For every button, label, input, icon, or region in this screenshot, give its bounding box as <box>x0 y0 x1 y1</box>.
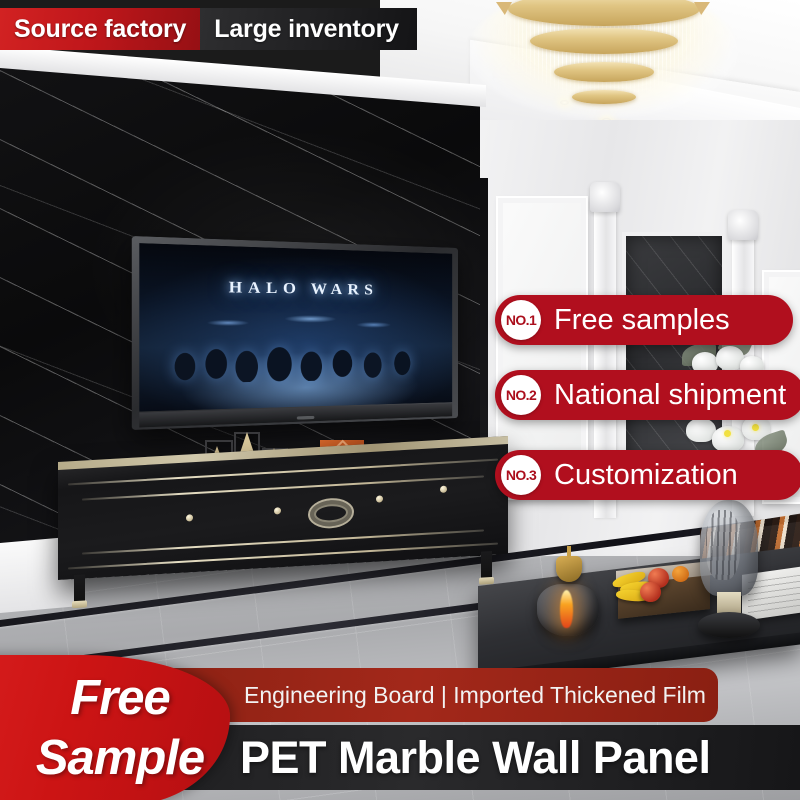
pilaster-capital <box>728 210 758 240</box>
feature-label-2: National shipment <box>554 379 786 412</box>
free-sample-badge: Free Sample <box>20 668 220 788</box>
cabinet-knob <box>274 507 281 514</box>
badge-circle-3: NO.3 <box>501 455 541 495</box>
subtitle-bar: Engineering Board | Imported Thickened F… <box>168 668 718 722</box>
decorative-glass-vase <box>700 500 758 596</box>
feature-pill-3: NO.3 Customization <box>495 450 800 500</box>
cabinet-leg <box>481 551 492 580</box>
tv-scene-army <box>153 327 441 384</box>
chandelier-tier <box>530 28 678 54</box>
product-title: PET Marble Wall Panel <box>240 732 710 784</box>
cabinet-medallion <box>308 497 354 530</box>
lamp-flame <box>560 590 573 628</box>
product-marketing-image: HALO WARS <box>0 0 800 800</box>
badge-circle-2: NO.2 <box>501 375 541 415</box>
feature-label-1: Free samples <box>554 304 730 337</box>
source-factory-tag: Source factory <box>0 8 200 50</box>
badge-number-1: NO.1 <box>506 312 536 328</box>
vase-foot <box>698 612 760 638</box>
badge-number-3: NO.3 <box>506 467 536 483</box>
badge-number-2: NO.2 <box>506 387 536 403</box>
large-inventory-tag: Large inventory <box>200 8 417 50</box>
free-sample-line-1: Free <box>20 668 220 728</box>
cabinet-trim-line <box>82 529 484 554</box>
cabinet-leg <box>74 574 85 603</box>
flower-center <box>752 424 759 431</box>
orange-fruit <box>672 566 689 582</box>
tv-logo <box>297 416 315 420</box>
large-inventory-label: Large inventory <box>214 15 399 44</box>
source-factory-label: Source factory <box>14 15 186 44</box>
feature-label-3: Customization <box>554 459 738 492</box>
lamp-brass-cap <box>556 556 582 582</box>
wall-mounted-tv: HALO WARS <box>132 236 458 430</box>
chandelier-tier <box>572 90 636 104</box>
pilaster-capital <box>590 182 620 212</box>
flower-center <box>724 430 731 437</box>
feature-pill-1: NO.1 Free samples <box>495 295 793 345</box>
badge-circle-1: NO.1 <box>501 300 541 340</box>
free-sample-line-2: Sample <box>20 728 220 788</box>
subtitle-label: Engineering Board | Imported Thickened F… <box>244 682 706 709</box>
cabinet-knob <box>186 514 193 521</box>
apple <box>640 582 661 602</box>
feature-pill-2: NO.2 National shipment <box>495 370 800 420</box>
crystal-chandelier <box>468 0 738 136</box>
cabinet-knob <box>440 486 447 493</box>
chandelier-tier <box>554 62 654 82</box>
top-banner: Source factory Large inventory <box>0 8 417 50</box>
cabinet-knob <box>376 495 383 502</box>
tv-screen: HALO WARS <box>139 243 452 411</box>
tv-screen-title: HALO WARS <box>139 277 452 301</box>
